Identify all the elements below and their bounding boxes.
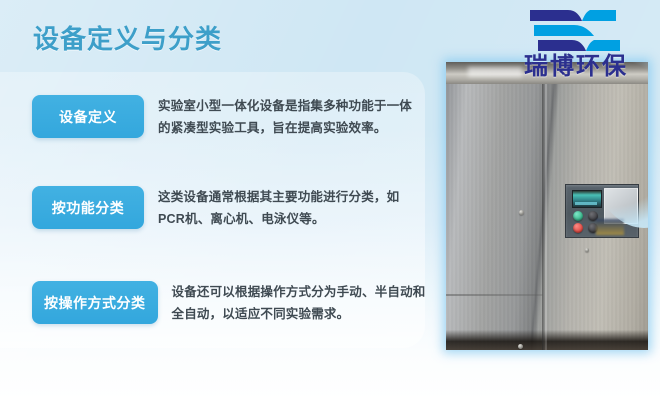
list-item: 设备定义 实验室小型一体化设备是指集多种功能于一体的紧凑型实验工具，旨在提高实验… [32, 94, 430, 139]
red-button-icon [573, 223, 583, 233]
reflection [596, 219, 624, 235]
door-seam [446, 294, 543, 296]
control-panel [565, 184, 639, 238]
cabinet-seam-right [545, 84, 547, 350]
green-button-icon [573, 211, 583, 221]
row-label-badge-1[interactable]: 设备定义 [32, 95, 144, 138]
row-label-badge-3[interactable]: 按操作方式分类 [32, 281, 158, 324]
row-label-badge-2[interactable]: 按功能分类 [32, 186, 144, 229]
row-description-1: 实验室小型一体化设备是指集多种功能于一体的紧凑型实验工具，旨在提高实验效率。 [158, 94, 416, 139]
row-description-2: 这类设备通常根据其主要功能进行分类，如PCR机、离心机、电泳仪等。 [158, 185, 416, 230]
list-item: 按功能分类 这类设备通常根据其主要功能进行分类，如PCR机、离心机、电泳仪等。 [32, 185, 430, 230]
equipment-photo [446, 62, 648, 350]
content-rows: 设备定义 实验室小型一体化设备是指集多种功能于一体的紧凑型实验工具，旨在提高实验… [0, 72, 430, 350]
rivet-icon [518, 344, 523, 349]
slide-root: 设备定义与分类 设备定义 实验室小型一体化设备是指集多种功能于一体的紧凑型实验工… [0, 0, 660, 400]
brand-name: 瑞博环保 [502, 55, 650, 79]
lcd-display-icon [572, 190, 602, 208]
list-item: 按操作方式分类 设备还可以根据操作方式分为手动、半自动和全自动，以适应不同实验需… [32, 280, 430, 325]
brand-logo: 瑞博环保 [502, 8, 650, 79]
row-description-3: 设备还可以根据操作方式分为手动、半自动和全自动，以适应不同实验需求。 [172, 280, 430, 325]
rivet-icon [585, 248, 589, 252]
page-title: 设备定义与分类 [33, 24, 222, 55]
rivet-icon [519, 210, 524, 215]
ribo-logo-mark-icon [524, 8, 628, 54]
